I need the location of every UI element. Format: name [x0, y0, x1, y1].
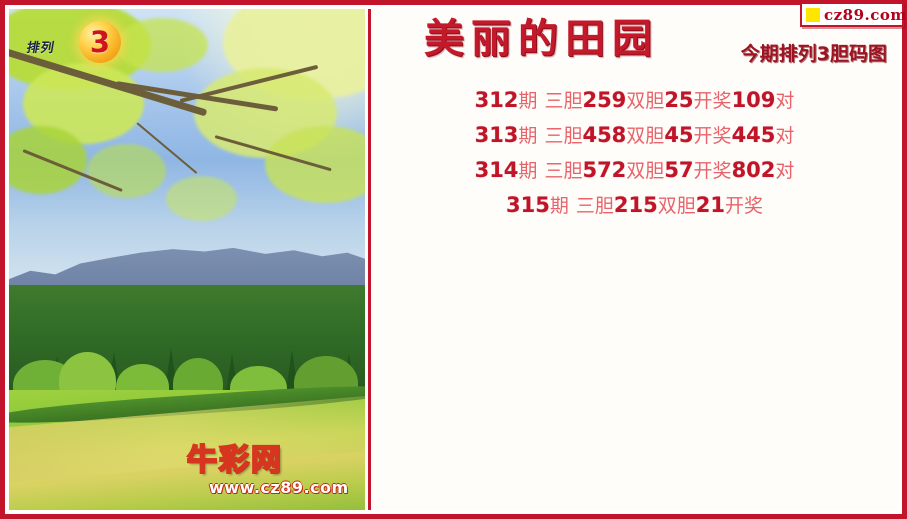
- three-dan-label: 三胆: [544, 125, 582, 147]
- watermark-url-text: www.cz89.com: [209, 478, 349, 497]
- three-dan-value: 259: [582, 88, 626, 112]
- result-label: 对: [775, 160, 794, 182]
- double-dan-value: 21: [696, 193, 725, 217]
- issue-label: 期: [518, 90, 537, 112]
- prediction-row: 314期三胆572双胆57开奖802对: [374, 153, 895, 188]
- result-label: 对: [775, 125, 794, 147]
- three-dan-label: 三胆: [544, 160, 582, 182]
- issue-number: 315: [506, 193, 550, 217]
- issue-label: 期: [518, 160, 537, 182]
- issue-number: 314: [475, 158, 519, 182]
- draw-value: 802: [732, 158, 776, 182]
- vertical-divider: [368, 9, 371, 510]
- three-dan-value: 458: [582, 123, 626, 147]
- page-subtitle: 今期排列3胆码图: [741, 39, 887, 66]
- draw-label: 开奖: [694, 160, 732, 182]
- result-label: 对: [775, 90, 794, 112]
- three-dan-label: 三胆: [576, 195, 614, 217]
- prediction-row: 313期三胆458双胆45开奖445对: [374, 118, 895, 153]
- issue-number: 312: [475, 88, 519, 112]
- draw-value: 445: [732, 123, 776, 147]
- double-dan-label: 双胆: [626, 125, 664, 147]
- draw-label: 开奖: [694, 125, 732, 147]
- scenery-photo: 排列 3 牛彩网 www.cz89.com: [9, 9, 365, 510]
- pailie3-ball-icon: 3: [79, 21, 121, 63]
- three-dan-label: 三胆: [544, 90, 582, 112]
- double-dan-label: 双胆: [658, 195, 696, 217]
- prediction-list: 312期三胆259双胆25开奖109对 313期三胆458双胆45开奖445对 …: [374, 83, 895, 223]
- three-dan-value: 215: [614, 193, 658, 217]
- double-dan-label: 双胆: [626, 160, 664, 182]
- three-dan-value: 572: [582, 158, 626, 182]
- double-dan-value: 45: [664, 123, 693, 147]
- yellow-square-icon: [806, 8, 820, 22]
- issue-label: 期: [550, 195, 569, 217]
- double-dan-value: 25: [664, 88, 693, 112]
- draw-value: 109: [732, 88, 776, 112]
- issue-label: 期: [518, 125, 537, 147]
- prediction-row: 315期三胆215双胆21开奖: [374, 188, 895, 223]
- lottery-poster: 排列 3 牛彩网 www.cz89.com 美丽的田园 今期排列3胆码图 312…: [0, 0, 907, 519]
- double-dan-label: 双胆: [626, 90, 664, 112]
- prediction-row: 312期三胆259双胆25开奖109对: [374, 83, 895, 118]
- issue-number: 313: [475, 123, 519, 147]
- pailie3-logo-text: 排列: [25, 37, 56, 56]
- draw-label: 开奖: [725, 195, 763, 217]
- watermark-logo-text: 牛彩网: [187, 440, 357, 482]
- site-badge-label: cz89.com: [824, 6, 907, 24]
- pailie3-logo: 排列 3: [23, 21, 133, 65]
- site-watermark: 牛彩网 www.cz89.com: [187, 440, 357, 502]
- content-panel: 美丽的田园 今期排列3胆码图 312期三胆259双胆25开奖109对 313期三…: [374, 9, 895, 510]
- draw-label: 开奖: [694, 90, 732, 112]
- pailie3-number: 3: [79, 21, 121, 63]
- double-dan-value: 57: [664, 158, 693, 182]
- site-badge[interactable]: cz89.com: [800, 2, 904, 27]
